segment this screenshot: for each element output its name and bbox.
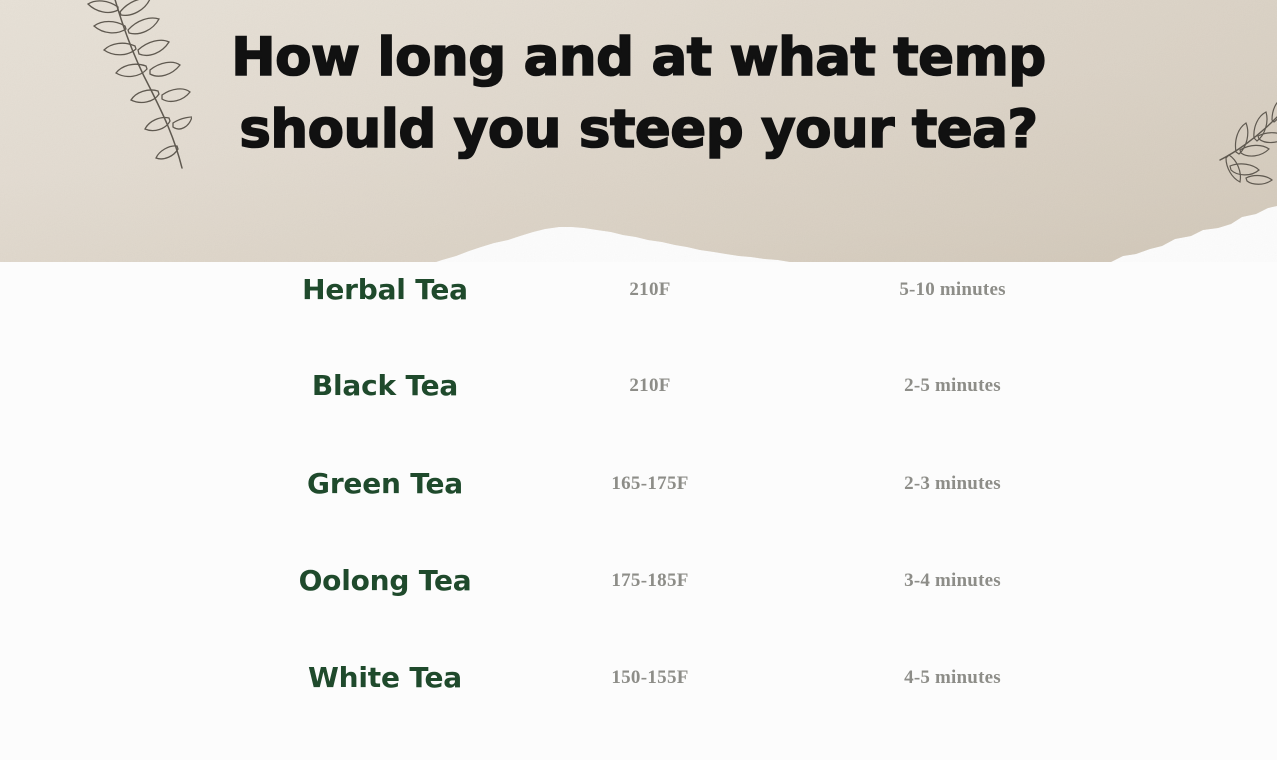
- table-row: Oolong Tea 175-185F 3-4 minutes: [0, 561, 1277, 601]
- header-band: How long and at what temp should you ste…: [0, 0, 1277, 262]
- table-row: Green Tea 165-175F 2-3 minutes: [0, 464, 1277, 504]
- tea-steep-time: 5-10 minutes: [840, 270, 1065, 310]
- tea-steep-time: 4-5 minutes: [840, 658, 1065, 698]
- table-row: Black Tea 210F 2-5 minutes: [0, 366, 1277, 406]
- tea-steep-time: 2-3 minutes: [840, 464, 1065, 504]
- tea-name: Herbal Tea: [230, 270, 540, 310]
- tea-name: White Tea: [230, 658, 540, 698]
- steeping-table: Herbal Tea 210F 5-10 minutes Black Tea 2…: [0, 262, 1277, 760]
- tea-temperature: 210F: [545, 366, 755, 406]
- page-title-line-2: should you steep your tea?: [0, 94, 1277, 166]
- tea-name: Black Tea: [230, 366, 540, 406]
- table-row: White Tea 150-155F 4-5 minutes: [0, 658, 1277, 698]
- tea-temperature: 210F: [545, 270, 755, 310]
- tea-name: Green Tea: [230, 464, 540, 504]
- tea-steep-time: 3-4 minutes: [840, 561, 1065, 601]
- tea-steep-time: 2-5 minutes: [840, 366, 1065, 406]
- page-title-line-1: How long and at what temp: [0, 22, 1277, 94]
- page-title: How long and at what temp should you ste…: [0, 22, 1277, 166]
- tea-temperature: 165-175F: [545, 464, 755, 504]
- tea-temperature: 175-185F: [545, 561, 755, 601]
- tea-steeping-infographic: How long and at what temp should you ste…: [0, 0, 1277, 760]
- table-row: Herbal Tea 210F 5-10 minutes: [0, 270, 1277, 310]
- tea-temperature: 150-155F: [545, 658, 755, 698]
- tea-name: Oolong Tea: [230, 561, 540, 601]
